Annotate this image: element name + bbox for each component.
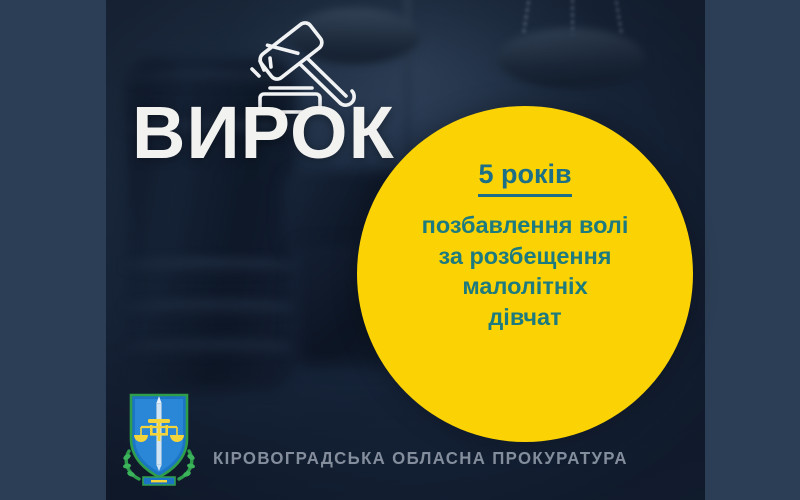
left-color-band [0,0,106,500]
blurred-gavel-ring [123,300,301,316]
prosecutor-emblem-icon [119,387,199,488]
scales-pan-right [497,28,645,88]
sentence-duration: 5 років [478,158,571,197]
sentence-line: за розбещення [357,242,693,271]
scales-chain [614,0,624,36]
sentence-line: дівчат [357,303,693,332]
blurred-gavel-ring [123,258,301,274]
right-color-band [705,0,800,500]
page-title: ВИРОК [132,96,395,170]
scales-chain [522,0,532,36]
scales-of-justice-icon [403,0,412,170]
sentence-text-block: 5 років позбавлення волі за розбещення м… [357,158,693,334]
scales-chain [571,0,574,36]
yellow-highlight-circle: 5 років позбавлення волі за розбещення м… [357,106,693,442]
poster-canvas: ВИРОК 5 років позбавлення волі за розбещ… [0,0,800,500]
sentence-line: позбавлення волі [357,211,693,240]
blurred-gavel-ring [123,340,301,356]
sentence-line: малолітніх [357,272,693,301]
organization-name: КІРОВОГРАДСЬКА ОБЛАСНА ПРОКУРАТУРА [213,448,628,469]
